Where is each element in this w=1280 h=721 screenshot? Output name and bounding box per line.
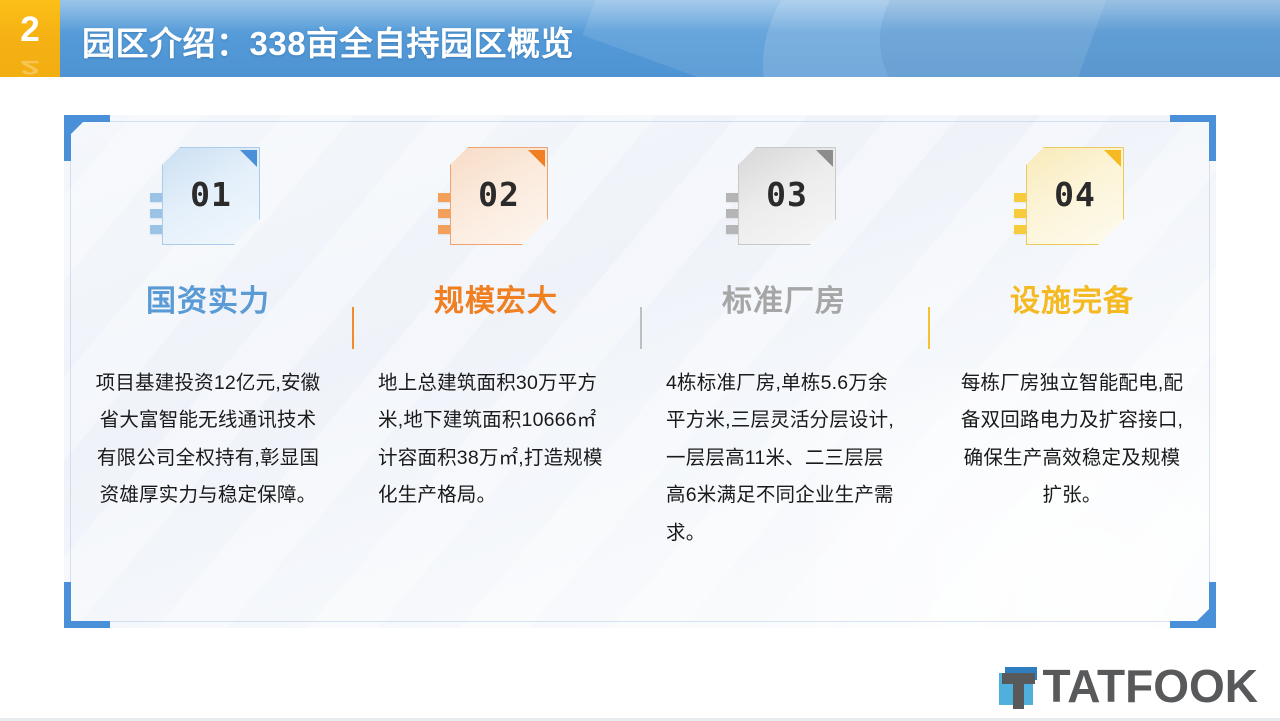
badge-wrapper-4: 04	[954, 147, 1190, 265]
feature-title-3: 标准厂房	[666, 281, 902, 323]
feature-column-1: 01 国资实力 项目基建投资12亿元,安徽省大富智能无线通讯技术有限公司全权持有…	[64, 115, 352, 628]
feature-column-4: 04 设施完备 每栋厂房独立智能配电,配备双回路电力及扩容接口,确保生产高效稳定…	[928, 115, 1216, 628]
company-logo: TATFOOK	[995, 659, 1258, 713]
badge-number-label: 01	[162, 147, 260, 245]
slide: 2 2 园区介绍：338亩全自持园区概览 01 国资实力 项目基建投资12亿元	[0, 0, 1280, 721]
badge-wrapper-3: 03	[666, 147, 902, 265]
badge-number-label: 02	[450, 147, 548, 245]
number-badge-01: 01	[162, 147, 260, 245]
logo-text: TATFOOK	[1043, 663, 1258, 709]
badge-wrapper-2: 02	[378, 147, 614, 265]
number-badge-03: 03	[738, 147, 836, 245]
badge-number-label: 03	[738, 147, 836, 245]
slide-header: 2 2 园区介绍：338亩全自持园区概览	[0, 0, 1280, 77]
feature-body-3: 4栋标准厂房,单栋5.6万余平方米,三层灵活分层设计,一层层高11米、二三层层高…	[666, 365, 902, 552]
feature-column-3: 03 标准厂房 4栋标准厂房,单栋5.6万余平方米,三层灵活分层设计,一层层高1…	[640, 115, 928, 628]
number-badge-04: 04	[1026, 147, 1124, 245]
page-title: 园区介绍：338亩全自持园区概览	[82, 17, 574, 65]
slide-number: 2	[20, 12, 39, 47]
feature-body-1: 项目基建投资12亿元,安徽省大富智能无线通讯技术有限公司全权持有,彰显国资雄厚实…	[90, 365, 326, 515]
slide-number-reflection: 2	[20, 58, 39, 77]
feature-title-2: 规模宏大	[378, 281, 614, 323]
number-badge-02: 02	[450, 147, 548, 245]
tatfook-mark-icon	[995, 663, 1041, 709]
slide-number-badge: 2 2	[0, 0, 60, 77]
feature-title-1: 国资实力	[90, 281, 326, 323]
feature-columns: 01 国资实力 项目基建投资12亿元,安徽省大富智能无线通讯技术有限公司全权持有…	[64, 115, 1216, 628]
feature-title-4: 设施完备	[954, 281, 1190, 323]
feature-body-4: 每栋厂房独立智能配电,配备双回路电力及扩容接口,确保生产高效稳定及规模扩张。	[954, 365, 1190, 515]
feature-column-2: 02 规模宏大 地上总建筑面积30万平方米,地下建筑面积10666㎡ 计容面积3…	[352, 115, 640, 628]
feature-body-2: 地上总建筑面积30万平方米,地下建筑面积10666㎡ 计容面积38万㎡,打造规模…	[378, 365, 614, 515]
badge-wrapper-1: 01	[90, 147, 326, 265]
badge-number-label: 04	[1026, 147, 1124, 245]
